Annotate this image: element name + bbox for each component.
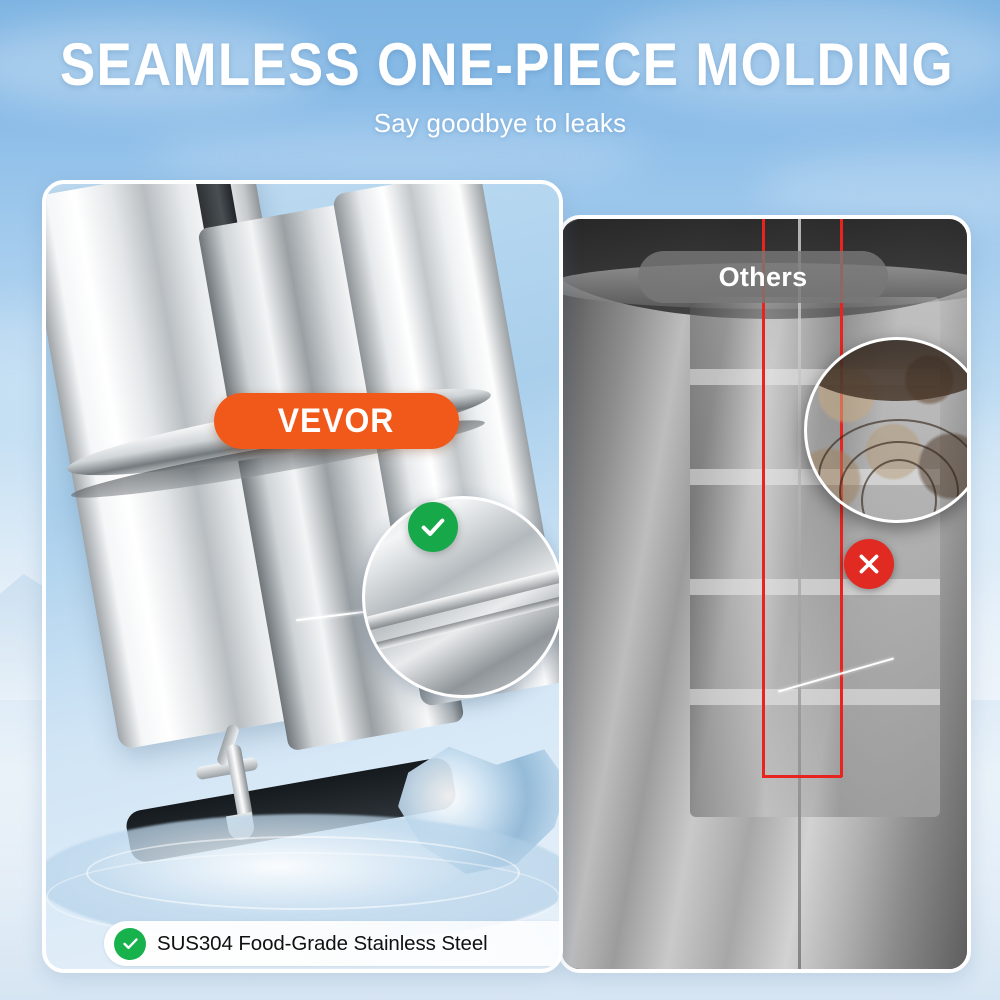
vevor-panel: VEVOR SUS304 Food-Grade Stainless Steel … — [42, 180, 563, 973]
others-product-image — [562, 219, 967, 969]
tank-band — [690, 689, 940, 705]
list-item: Seamless One-Piece Molding, No Welds — [104, 970, 563, 973]
tank-band — [690, 579, 940, 595]
weld-seam — [798, 219, 801, 973]
weld-marker-line — [762, 775, 842, 778]
others-label-text: Others — [719, 262, 808, 293]
vevor-brand-badge: VEVOR — [214, 393, 459, 449]
seamless-magnifier — [362, 496, 563, 698]
check-icon — [114, 928, 146, 960]
cross-badge-icon — [844, 539, 894, 589]
rust-magnifier — [804, 337, 971, 523]
others-panel: Others 430 Stainless Steel Welded, Notic… — [558, 215, 971, 973]
header: SEAMLESS ONE-PIECE MOLDING Say goodbye t… — [0, 34, 1000, 139]
check-badge-icon — [408, 502, 458, 552]
vevor-feature-list: SUS304 Food-Grade Stainless Steel Seamle… — [104, 921, 563, 973]
check-icon — [419, 513, 447, 541]
list-item: SUS304 Food-Grade Stainless Steel — [104, 921, 563, 966]
promo-image: SEAMLESS ONE-PIECE MOLDING Say goodbye t… — [0, 0, 1000, 1000]
others-label-badge: Others — [638, 251, 888, 303]
page-title: SEAMLESS ONE-PIECE MOLDING — [60, 34, 940, 96]
vevor-brand-text: VEVOR — [278, 402, 395, 441]
cross-icon — [856, 551, 882, 577]
list-item-label: SUS304 Food-Grade Stainless Steel — [157, 932, 488, 956]
page-subtitle: Say goodbye to leaks — [0, 108, 1000, 139]
